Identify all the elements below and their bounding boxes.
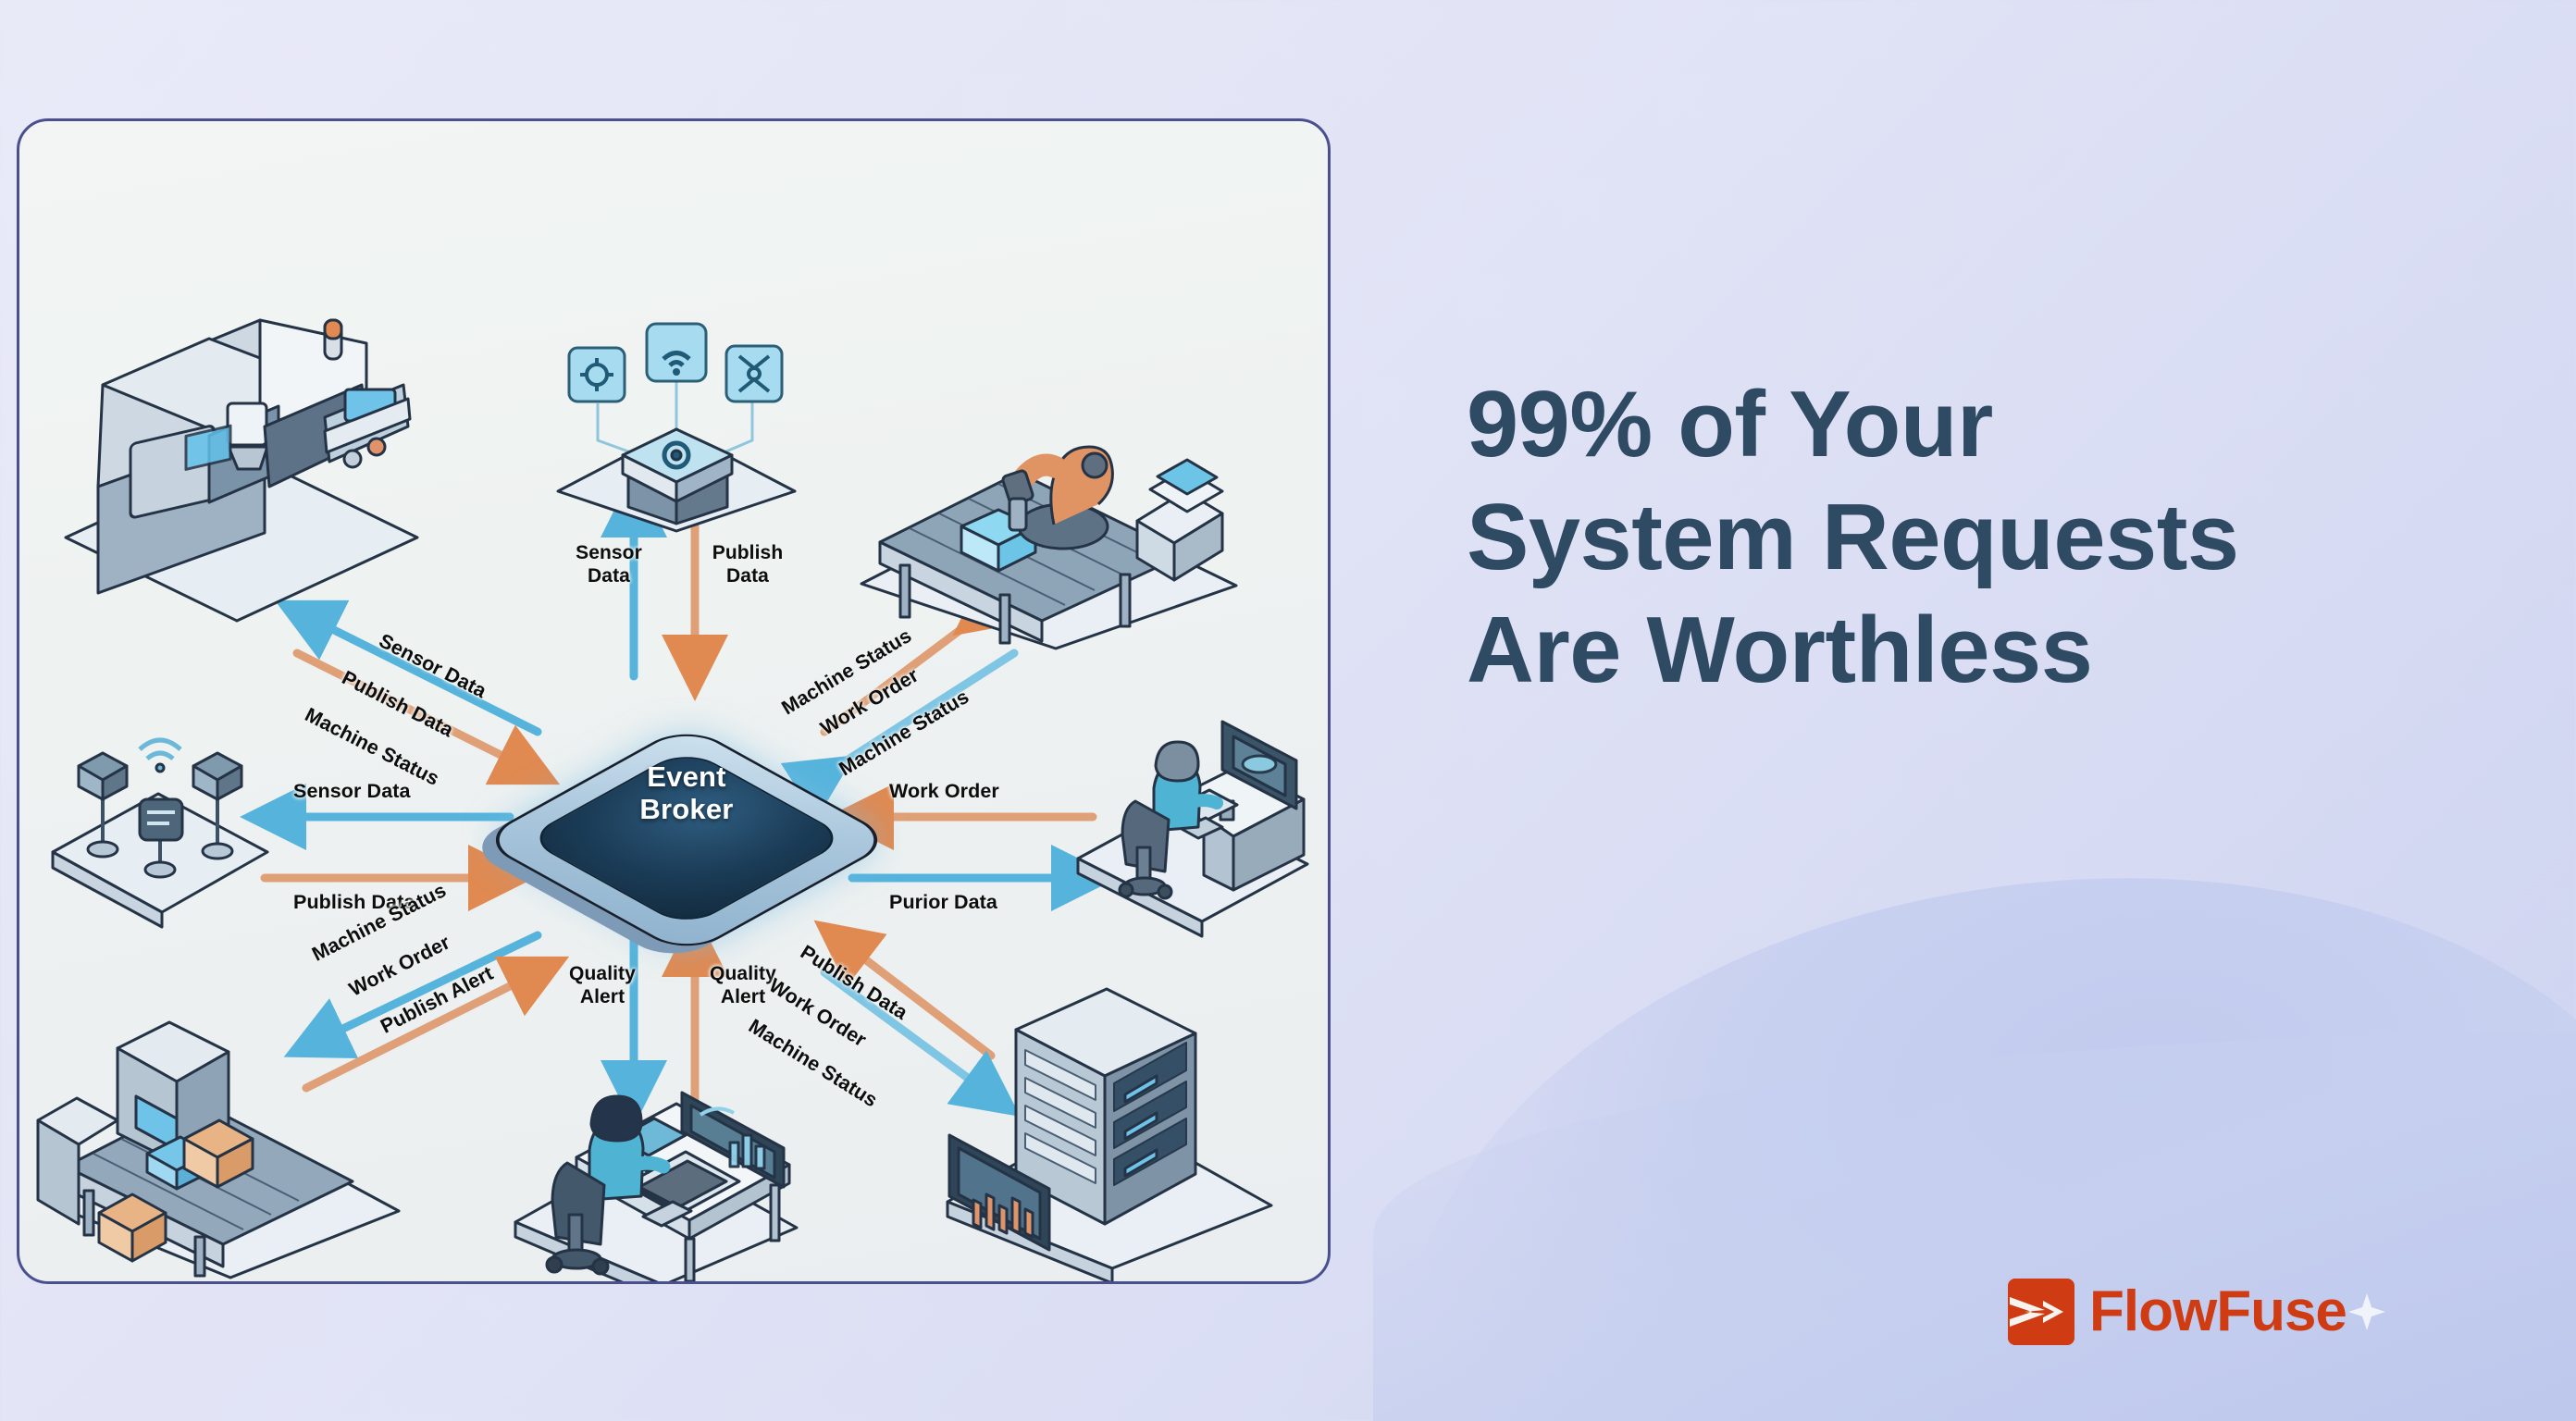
diagram-canvas: Event Broker Sensor Data Publish Data Qu… [19,121,1328,1281]
flow-label-bottom-down: Quality Alert [560,963,645,1009]
node-engineer-desk [501,1046,815,1284]
flowfuse-mark-icon [2008,1279,2074,1345]
flow-label-left-out: Sensor Data [293,780,411,803]
background-swoosh-band [1373,1032,2576,1421]
node-packaging-line [29,982,417,1278]
broker-label: Event Broker [534,761,839,825]
page-headline: 99% of Your System Requests Are Worthles… [1467,368,2558,708]
headline-line-3: Are Worthless [1467,594,2558,707]
headline-line-2: System Requests [1467,481,2558,594]
node-cnc-machine [47,288,436,593]
node-wireless-sensors [36,709,286,921]
event-broker-node[interactable]: Event Broker [534,704,839,917]
diagram-card: Event Broker Sensor Data Publish Data Qu… [17,118,1331,1284]
node-operator-station [1065,699,1324,921]
flowfuse-logo[interactable]: FlowFuse [2008,1279,2385,1345]
flow-label-right-out: Purior Data [889,891,997,914]
node-robot-arm [843,343,1250,649]
flowfuse-wordmark: FlowFuse [2089,1283,2347,1341]
node-iot-gateway [538,292,815,533]
broker-label-line1: Event [647,760,725,793]
node-server-rack [931,982,1282,1268]
broker-label-line2: Broker [639,793,733,825]
flow-label-top-down: Publish Data [706,542,789,588]
background-swoosh-glow [1349,797,2576,1421]
flow-label-top-up: Sensor Data [567,542,650,588]
sparkle-icon [2348,1293,2385,1330]
flow-label-right-in: Work Order [889,780,999,803]
headline-line-1: 99% of Your [1467,368,2558,481]
